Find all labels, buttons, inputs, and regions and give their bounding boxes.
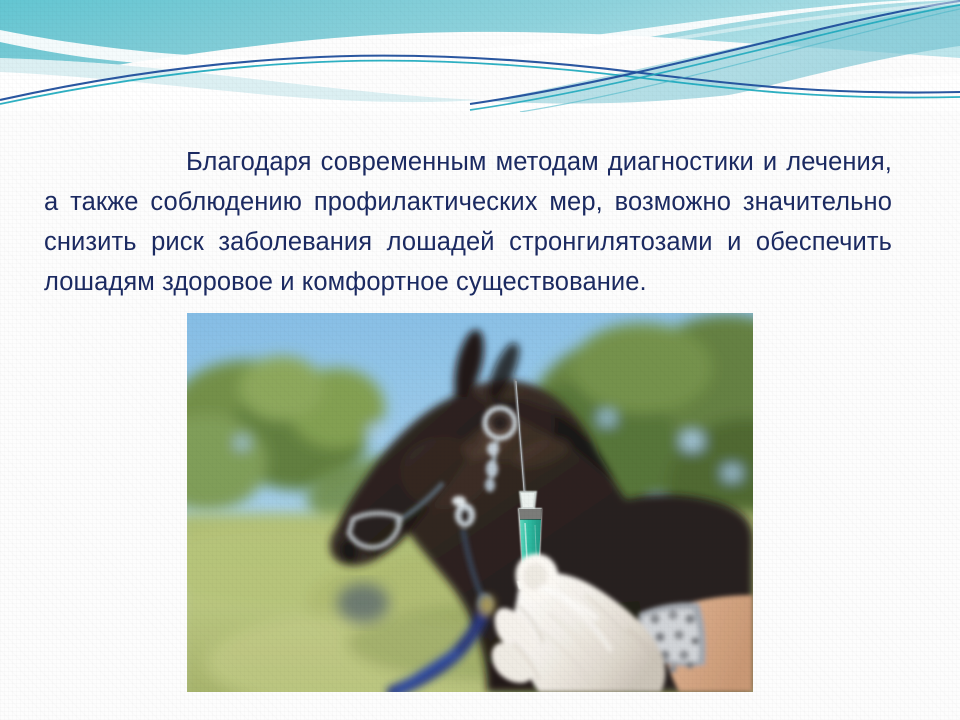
presentation-slide: Благодаря современным методам диагностик… bbox=[0, 0, 960, 720]
decorative-wave-banner bbox=[0, 0, 960, 112]
horse-vaccination-photo bbox=[187, 313, 753, 692]
slide-body-paragraph: Благодаря современным методам диагностик… bbox=[44, 142, 892, 302]
